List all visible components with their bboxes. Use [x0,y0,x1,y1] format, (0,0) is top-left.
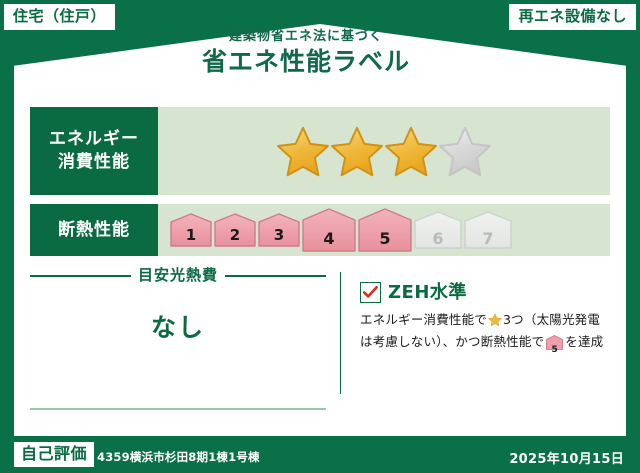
panel-bottom-rule [30,408,326,410]
insulation-level-house: 3 [258,213,300,247]
utility-cost-heading: 目安光熱費 [30,268,326,283]
insulation-level-house: 5 [358,208,412,252]
star-rating [158,107,610,195]
self-evaluation-badge: 自己評価 [14,442,94,467]
insulation-level-number: 2 [214,228,256,243]
lower-section: 目安光熱費 なし ZEH水準 エネルギー消費性能で3つ（太陽光発電 は考慮しない… [30,268,610,398]
zeh-desc-part3: を達成 [565,334,603,349]
main-panel: エネルギー 消費性能 断熱性能 1234567 目安光熱費 なし [14,96,626,436]
insulation-level-number: 6 [414,231,462,247]
insulation-level-house: 2 [214,213,256,247]
star-filled-icon [276,125,330,177]
zeh-title: ZEH水準 [388,284,467,302]
page-title: 省エネ性能ラベル [0,49,612,74]
insulation-performance-label: 断熱性能 [30,204,158,256]
insulation-level-number: 4 [302,231,356,247]
energy-performance-label: 住宅（住戸） 再エネ設備なし 建築物省エネ法に基づく 省エネ性能ラベル エネルギ… [0,0,640,473]
insulation-level-number: 1 [170,228,212,243]
heading-rule-left [30,275,131,277]
insulation-level-scale: 1234567 [158,204,610,256]
insulation-level-house: 7 [464,211,512,249]
zeh-description: エネルギー消費性能で3つ（太陽光発電 は考慮しない）、かつ断熱性能で5を達成 [360,310,610,356]
inline-house-level: 5 [546,346,563,355]
star-filled-icon [384,125,438,177]
zeh-desc-part2: は考慮しない）、かつ断熱性能で [360,334,544,349]
header-text-block: 建築物省エネ法に基づく 省エネ性能ラベル [0,30,612,74]
insulation-label-text: 断熱性能 [58,219,130,242]
issue-date: 2025年10月15日 [509,448,624,467]
energy-performance-row: エネルギー 消費性能 [30,107,610,195]
utility-cost-heading-text: 目安光熱費 [138,268,218,283]
insulation-level-number: 5 [358,231,412,247]
energy-label-line2: 消費性能 [58,151,130,174]
energy-label-line1: エネルギー [49,128,139,151]
star-filled-icon [330,125,384,177]
property-address: 4359横浜市杉田8期1棟1号棟 [97,449,260,465]
header-subtitle: 建築物省エネ法に基づく [0,30,612,43]
zeh-block: ZEH水準 エネルギー消費性能で3つ（太陽光発電 は考慮しない）、かつ断熱性能で… [360,282,610,356]
inline-star-icon [488,313,502,332]
insulation-level-house: 6 [414,211,462,249]
heading-rule-right [225,275,326,277]
category-badge: 住宅（住戸） [4,4,115,30]
insulation-level-number: 3 [258,228,300,243]
zeh-desc-part1: エネルギー消費性能で [360,312,487,327]
insulation-level-house: 4 [302,208,356,252]
inline-house-icon: 5 [546,335,563,355]
renewable-energy-badge: 再エネ設備なし [509,4,636,30]
insulation-level-house: 1 [170,213,212,247]
vertical-divider [340,272,341,394]
utility-cost-value: なし [30,308,326,344]
energy-performance-label: エネルギー 消費性能 [30,107,158,195]
zeh-title-row: ZEH水準 [360,282,610,303]
zeh-desc-star-count: 3つ（太陽光発電 [503,312,600,327]
insulation-performance-row: 断熱性能 1234567 [30,204,610,256]
checkbox-icon [360,282,381,303]
insulation-level-number: 7 [464,231,512,247]
footer-bar: 自己評価 4359横浜市杉田8期1棟1号棟 2025年10月15日 [0,440,640,473]
star-empty-icon [438,125,492,177]
